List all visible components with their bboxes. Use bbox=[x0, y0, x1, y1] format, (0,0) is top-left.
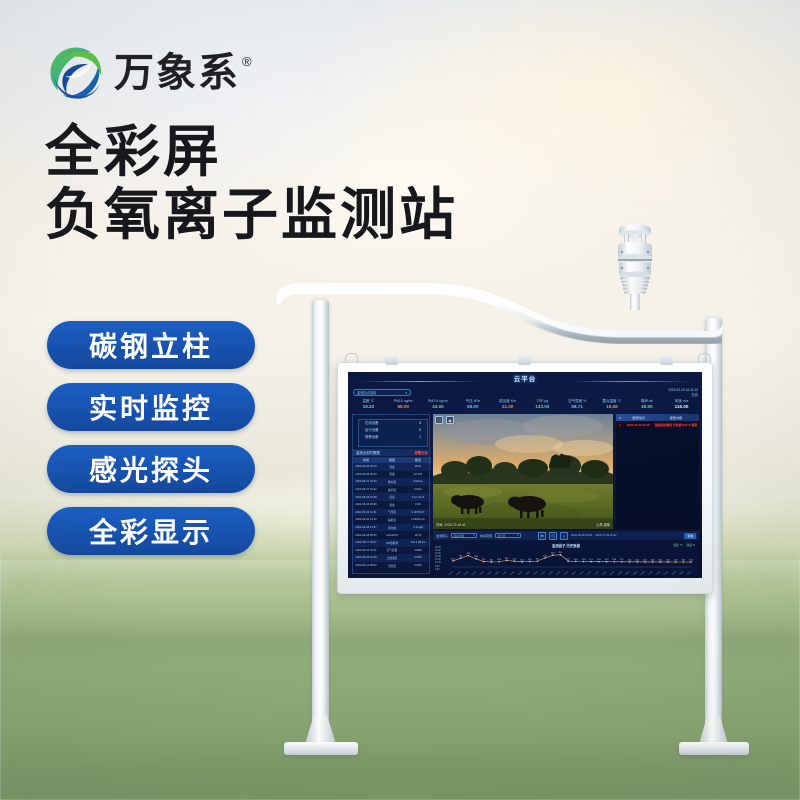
stat-row: 在线设备 3 bbox=[359, 420, 427, 427]
metric-value: 58.71 bbox=[560, 404, 595, 411]
table-cell: 42.187 bbox=[405, 473, 431, 476]
data-point-label: 23.4 bbox=[467, 553, 471, 555]
x-tick-label: 07-03 04:00 bbox=[615, 571, 623, 575]
data-point-label: 18.7 bbox=[543, 555, 547, 557]
x-tick-label: 07-03 10:00 bbox=[638, 571, 646, 575]
x-tick-label: 07-02 00:00 bbox=[553, 571, 561, 575]
data-point[interactable] bbox=[537, 560, 539, 562]
x-tick-label: 07-01 08:00 bbox=[538, 571, 546, 575]
data-point-label: 24.3 bbox=[551, 553, 555, 555]
data-point-label: 11.4 bbox=[528, 559, 532, 561]
table-cell: 2022-06-20 13:10 bbox=[353, 518, 379, 521]
table-cell: 2022-06-24 09:38 bbox=[353, 503, 379, 506]
full-color-led-screen[interactable]: 云平台 监测站点选择 ▾ 2024-03-15 16:42:10 在线 温度 ℃… bbox=[348, 372, 702, 578]
metric-item: PM10 ug/m³ 58.00 bbox=[386, 399, 421, 411]
table-view-icon[interactable]: ▤ bbox=[538, 532, 546, 540]
metric-item: 能见度 Km 21.00 bbox=[490, 399, 525, 411]
x-tick-label: 06-30 16:00 bbox=[522, 571, 530, 575]
alarm-records-label[interactable]: 报警记录 bbox=[414, 450, 428, 455]
table-cell: 2022-06-15 10:18 bbox=[353, 556, 379, 559]
live-camera-feed[interactable]: ⛶ ◉ 时间: 2022/7/3 16:42 山界-摄像 bbox=[433, 414, 613, 529]
data-point-label: 13.6 bbox=[505, 558, 509, 560]
data-point[interactable] bbox=[468, 555, 470, 557]
table-cell: 气压值 bbox=[379, 510, 405, 514]
data-point[interactable] bbox=[652, 561, 654, 563]
chevron-down-icon: ▾ bbox=[405, 391, 407, 395]
table-cell: 2022-06-28 09:10 bbox=[353, 473, 379, 476]
factor-select[interactable]: 温度/湿度 ▾ bbox=[451, 533, 477, 539]
x-tick-label: 07-01 16:00 bbox=[545, 571, 553, 575]
x-tick-label: 07-01 00:00 bbox=[530, 571, 538, 575]
table-row[interactable]: 2022-06-15 10:18土壤湿度0.05% bbox=[353, 554, 431, 562]
mount-tab bbox=[518, 356, 531, 365]
x-tick-label: 07-02 04:00 bbox=[561, 571, 569, 575]
x-tick-label: 07-03 14:00 bbox=[661, 571, 669, 575]
camera-location: 山界-摄像 bbox=[596, 522, 610, 527]
export-icon[interactable]: ⤓ bbox=[560, 532, 568, 540]
screen-title: 云平台 bbox=[348, 373, 702, 383]
metric-item: TSP μg 143.00 bbox=[525, 399, 560, 411]
x-tick-label: 07-02 16:00 bbox=[584, 571, 592, 575]
table-cell: 湿度 bbox=[379, 503, 405, 507]
table-cell: 0.02% bbox=[405, 564, 431, 567]
carbon-steel-post-left bbox=[312, 300, 329, 732]
data-point[interactable] bbox=[606, 561, 608, 563]
range-select[interactable]: 近七天 ▾ bbox=[495, 533, 521, 539]
site-selector-dropdown[interactable]: 监测站点选择 ▾ bbox=[353, 389, 411, 396]
data-point[interactable] bbox=[598, 561, 600, 563]
table-row[interactable]: 2022-06-28 09:10风速42.187 bbox=[353, 471, 431, 479]
alarm-row[interactable]: 1 2022-07-03 16:40 温度超出阈值 当前值18.9℃ 超限 bbox=[616, 421, 699, 428]
table-cell: 2022-06-27 15:22 bbox=[353, 488, 379, 491]
table-cell: 18.73 bbox=[405, 534, 431, 537]
data-point[interactable] bbox=[644, 561, 646, 563]
x-tick-label: 06-28 04:00 bbox=[453, 571, 461, 575]
chevron-down-icon: ▾ bbox=[473, 534, 474, 537]
table-cell: 18.97 bbox=[405, 465, 431, 468]
x-tick-label: 06-29 16:00 bbox=[499, 571, 507, 575]
stat-row: 报警设备 1 bbox=[359, 434, 427, 441]
table-cell: 0.0079167 bbox=[405, 511, 431, 514]
data-point[interactable] bbox=[552, 554, 554, 556]
data-point[interactable] bbox=[613, 561, 615, 563]
data-point-label: 10.9 bbox=[605, 559, 609, 561]
factor-label: 监测因子 bbox=[436, 534, 448, 538]
table-row[interactable]: 2022-06-24 09:38湿度0.00t bbox=[353, 501, 431, 509]
data-point[interactable] bbox=[621, 561, 623, 563]
time-end[interactable]: 2022-07-03 16:42 bbox=[595, 534, 616, 537]
data-table-header: 监测点实时数据 报警记录 bbox=[353, 449, 431, 456]
time-start[interactable]: 2022-06-28 00:00 bbox=[571, 534, 592, 537]
table-row[interactable]: 2022-06-15 16:41空气质量0.08% bbox=[353, 547, 431, 555]
table-cell: 2022-06-18 14:57 bbox=[353, 526, 379, 529]
camera-image bbox=[433, 414, 613, 529]
data-point-label: 10.3 bbox=[681, 559, 685, 561]
table-row[interactable]: 2022-06-14 08:02光照度0.02% bbox=[353, 562, 431, 570]
data-point[interactable] bbox=[560, 554, 562, 556]
device-stats-box: 在线设备 3 运行设备 2 报警设备 1 bbox=[358, 419, 428, 447]
data-point[interactable] bbox=[675, 561, 677, 563]
data-point[interactable] bbox=[590, 561, 592, 563]
table-row[interactable]: 2022-06-28 09:15温度18.97 bbox=[353, 463, 431, 471]
data-point[interactable] bbox=[567, 560, 569, 562]
table-cell: 噪声值 bbox=[379, 488, 405, 492]
data-point[interactable] bbox=[491, 561, 493, 563]
table-cell: 0.00t bbox=[405, 503, 431, 506]
table-cell: 1.00x01mm bbox=[405, 518, 431, 521]
data-point[interactable] bbox=[529, 561, 531, 563]
table-cell: 降水量 bbox=[379, 480, 405, 484]
metric-value: 143.00 bbox=[525, 404, 560, 411]
data-point[interactable] bbox=[460, 557, 462, 559]
table-row[interactable]: 2022-06-25 10:08温度0.01 Um/h bbox=[353, 493, 431, 501]
chart-plot: 12.506-28 00:0018.206-28 04:0023.406-28 … bbox=[433, 546, 699, 575]
data-point[interactable] bbox=[514, 560, 516, 562]
data-point-label: 11.6 bbox=[574, 559, 578, 561]
alarm-panel-header: # 报警时间 报警内容 bbox=[616, 414, 699, 421]
data-point[interactable] bbox=[506, 560, 508, 562]
fullscreen-icon[interactable]: ⛶ bbox=[435, 416, 443, 424]
data-point-label: 12.2 bbox=[566, 558, 570, 560]
stat-row: 运行设备 2 bbox=[359, 427, 427, 434]
chevron-down-icon: ▾ bbox=[517, 534, 518, 537]
table-row[interactable]: 2022-06-17 02:47PM值检测102.1.88.ips bbox=[353, 539, 431, 547]
table-cell: 空气质量 bbox=[379, 548, 405, 552]
table-cell: 102.1.88.ips bbox=[405, 541, 431, 544]
screen-top-bar: 云平台 bbox=[348, 372, 702, 387]
data-point[interactable] bbox=[498, 561, 500, 563]
data-point-label: 10.6 bbox=[635, 559, 639, 561]
table-row[interactable]: 2022-06-18 14:57风向角0.4mgB bbox=[353, 524, 431, 532]
mount-hook-icon bbox=[345, 353, 358, 363]
data-point-label: 11.1 bbox=[589, 559, 593, 561]
table-cell: 风速 bbox=[379, 472, 405, 476]
x-tick-label: 06-28 16:00 bbox=[476, 571, 484, 575]
table-cell: 风向角 bbox=[379, 526, 405, 530]
metric-value: 18.32 bbox=[351, 404, 386, 411]
table-cell: 0.4mgB bbox=[405, 526, 431, 529]
screen-clock: 2024-03-15 16:42:10 在线 bbox=[668, 388, 698, 398]
x-tick-label: 07-03 16:00 bbox=[676, 571, 684, 575]
ultrasonic-weather-sensor bbox=[604, 222, 666, 310]
table-cell: 温度 bbox=[379, 465, 405, 469]
table-cell: 辐射度 bbox=[379, 518, 405, 522]
metric-item: 空气湿度 % 58.71 bbox=[560, 399, 595, 411]
site-selector-value: 监测站点选择 bbox=[357, 390, 376, 395]
data-point-label: 10.2 bbox=[689, 559, 693, 561]
snapshot-icon[interactable]: ◉ bbox=[446, 416, 454, 424]
data-point[interactable] bbox=[483, 561, 485, 563]
x-tick-label: 07-03 17:00 bbox=[684, 571, 692, 575]
x-tick-label: 07-03 13:00 bbox=[653, 571, 661, 575]
x-tick-label: 06-30 08:00 bbox=[515, 571, 523, 575]
data-point[interactable] bbox=[636, 561, 638, 563]
mount-tab bbox=[660, 356, 673, 365]
data-point-label: 12.5 bbox=[451, 558, 455, 560]
data-table-title: 监测点实时数据 bbox=[356, 450, 380, 455]
table-cell: 0.01 Um/h bbox=[405, 496, 431, 499]
metric-item: 风速 m/s 116.00 bbox=[664, 399, 699, 411]
table-cell: 2022-06-18 09:50 bbox=[353, 534, 379, 537]
monitoring-station: 云平台 监测站点选择 ▾ 2024-03-15 16:42:10 在线 温度 ℃… bbox=[0, 0, 800, 800]
table-cell: 2022-06-25 10:08 bbox=[353, 496, 379, 499]
metric-item: 噪声 db 48.90 bbox=[629, 399, 664, 411]
table-cell: 2022-06-28 09:15 bbox=[353, 465, 379, 468]
data-point[interactable] bbox=[575, 561, 577, 563]
table-cell: PM值检测 bbox=[379, 541, 405, 545]
x-tick-label: 07-03 12:00 bbox=[645, 571, 653, 575]
x-tick-label: 07-03 08:00 bbox=[630, 571, 638, 575]
history-line-chart: 监测因子 历史数据 温度 ℃ 湿度 % 35.0030.0025.0020.00… bbox=[433, 542, 699, 575]
data-point-label: 10.6 bbox=[628, 559, 632, 561]
mount-tab bbox=[385, 356, 398, 365]
metric-item: PM2.5 ug/m³ 44.00 bbox=[421, 399, 456, 411]
metric-item: 露点温度 ℃ 16.58 bbox=[595, 399, 630, 411]
mount-hook-icon bbox=[698, 353, 711, 363]
data-point[interactable] bbox=[475, 558, 477, 560]
table-cell: 2022-06-27 16:40 bbox=[353, 480, 379, 483]
table-cell: 2022-06-17 02:47 bbox=[353, 541, 379, 544]
table-cell: 0.00mm bbox=[405, 480, 431, 483]
table-cell: co2val75c bbox=[379, 534, 405, 537]
data-point[interactable] bbox=[683, 561, 685, 563]
chart-view-icon[interactable]: ◫ bbox=[549, 532, 557, 540]
data-point-label: 11.3 bbox=[582, 559, 586, 561]
data-point-label: 10.4 bbox=[658, 559, 662, 561]
data-point-label: 10.8 bbox=[612, 559, 616, 561]
data-point[interactable] bbox=[452, 560, 454, 562]
range-label: 时间范围 bbox=[480, 534, 492, 538]
data-point-label: 11.0 bbox=[597, 559, 601, 561]
x-tick-label: 07-02 08:00 bbox=[568, 571, 576, 575]
data-point[interactable] bbox=[690, 561, 692, 563]
metric-value: 21.00 bbox=[490, 404, 525, 411]
data-point-label: 10.7 bbox=[620, 559, 624, 561]
x-tick-label: 06-29 00:00 bbox=[484, 571, 492, 575]
camera-controls[interactable]: ⛶ ◉ bbox=[435, 416, 454, 424]
metric-strip: 温度 ℃ 18.32 PM10 ug/m³ 58.00 PM2.5 ug/m³ … bbox=[351, 399, 699, 411]
data-point-label: 10.5 bbox=[643, 559, 647, 561]
data-table-body: 2022-06-28 09:15温度18.972022-06-28 09:10风… bbox=[353, 463, 431, 569]
table-cell: 2022-06-15 16:41 bbox=[353, 549, 379, 552]
metric-value: 48.90 bbox=[629, 404, 664, 411]
query-button[interactable]: 查询 bbox=[684, 533, 696, 539]
left-data-panel: 在线设备 3 运行设备 2 报警设备 1 监测点实时数据 报警记录 bbox=[352, 414, 430, 574]
metric-item: 气压 kPa 98.00 bbox=[455, 399, 490, 411]
data-point-label: 10.3 bbox=[674, 559, 678, 561]
metric-value: 98.00 bbox=[455, 404, 490, 411]
data-point-label: 11.2 bbox=[482, 559, 486, 561]
table-cell: 2022-06-22 11:01 bbox=[353, 511, 379, 514]
data-point-label: 25.1 bbox=[559, 552, 563, 554]
x-tick-label: 06-28 00:00 bbox=[446, 571, 454, 575]
table-cell: 土壤湿度 bbox=[379, 556, 405, 560]
data-point[interactable] bbox=[629, 561, 631, 563]
product-marketing-image: 万象系 ® 全彩屏 负氧离子监测站 碳钢立柱 实时监控 感光探头 全彩显示 bbox=[0, 0, 800, 800]
alarm-panel: # 报警时间 报警内容 1 2022-07-03 16:40 温度超出阈值 当前… bbox=[616, 414, 699, 529]
table-cell: 光照度 bbox=[379, 564, 405, 568]
table-cell: 2022-06-14 08:02 bbox=[353, 564, 379, 567]
x-tick-label: 06-29 08:00 bbox=[492, 571, 500, 575]
table-cell: 0.00us bbox=[405, 488, 431, 491]
table-cell: 0.08% bbox=[405, 549, 431, 552]
camera-timestamp: 时间: 2022/7/3 16:42 bbox=[436, 522, 465, 527]
data-point-label: 10.4 bbox=[490, 559, 494, 561]
metric-value: 116.00 bbox=[664, 404, 699, 411]
metric-value: 44.00 bbox=[421, 404, 456, 411]
x-tick-label: 07-02 20:00 bbox=[592, 571, 600, 575]
table-row[interactable]: 2022-06-27 15:22噪声值0.00us bbox=[353, 486, 431, 494]
data-point-label: 16.8 bbox=[474, 556, 478, 558]
data-point-label: 10.4 bbox=[666, 559, 670, 561]
data-point-label: 10.5 bbox=[651, 559, 655, 561]
data-point[interactable] bbox=[659, 561, 661, 563]
x-tick-label: 07-03 00:00 bbox=[599, 571, 607, 575]
table-row[interactable]: 2022-06-27 16:40降水量0.00mm bbox=[353, 478, 431, 486]
data-point[interactable] bbox=[544, 557, 546, 559]
data-point-label: 11.9 bbox=[513, 559, 517, 561]
data-point[interactable] bbox=[521, 561, 523, 563]
metric-value: 58.00 bbox=[386, 404, 421, 411]
x-tick-label: 06-30 00:00 bbox=[507, 571, 515, 575]
table-row[interactable]: 2022-06-20 13:10辐射度1.00x01mm bbox=[353, 516, 431, 524]
chart-control-bar: 监测因子 温度/湿度 ▾ 时间范围 近七天 ▾ ▤ ◫ ⤓ 2022-06-28… bbox=[433, 531, 699, 540]
table-cell: 0.05% bbox=[405, 556, 431, 559]
x-tick-label: 07-03 06:00 bbox=[622, 571, 630, 575]
table-row[interactable]: 2022-06-22 11:01气压值0.0079167 bbox=[353, 509, 431, 517]
data-point-label: 12.1 bbox=[536, 559, 540, 561]
data-point[interactable] bbox=[667, 561, 669, 563]
x-tick-label: 07-03 02:00 bbox=[607, 571, 615, 575]
data-point-label: 10.6 bbox=[520, 559, 524, 561]
x-tick-label: 07-03 15:00 bbox=[668, 571, 676, 575]
table-cell: 温度 bbox=[379, 495, 405, 499]
x-tick-label: 07-02 12:00 bbox=[576, 571, 584, 575]
data-point[interactable] bbox=[583, 561, 585, 563]
x-tick-label: 06-28 12:00 bbox=[469, 571, 477, 575]
data-point-label: 18.2 bbox=[459, 556, 463, 558]
data-point-label: 10.8 bbox=[497, 559, 501, 561]
table-row[interactable]: 2022-06-18 09:50co2val75c18.73 bbox=[353, 531, 431, 539]
metric-value: 16.58 bbox=[595, 404, 630, 411]
x-tick-label: 06-28 08:00 bbox=[461, 571, 469, 575]
metric-item: 温度 ℃ 18.32 bbox=[351, 399, 386, 411]
